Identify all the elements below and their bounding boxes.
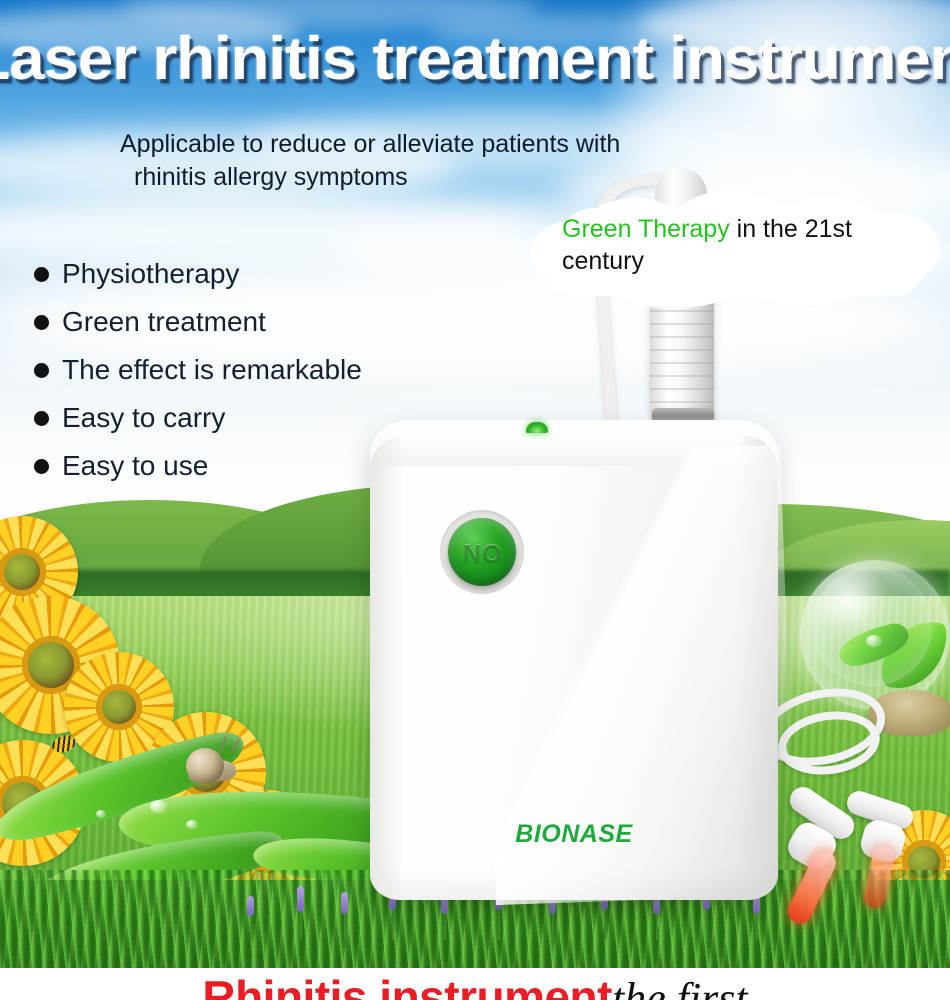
dew-drop (96, 810, 106, 818)
lavender-flower (297, 886, 304, 912)
callout-bubble: Green Therapy in the 21st century (518, 190, 942, 300)
callout-text: Green Therapy in the 21st century (562, 214, 934, 277)
power-led-indicator (526, 422, 548, 433)
lavender-flower (247, 896, 254, 916)
feature-list: Physiotherapy Green treatment The effect… (34, 250, 494, 490)
bullet-icon (34, 315, 49, 330)
power-button-label: ON (462, 538, 502, 567)
subtitle: Applicable to reduce or alleviate patien… (120, 128, 880, 194)
page-title: Laser rhinitis treatment instrument (0, 24, 950, 93)
cloud-lobe (750, 272, 860, 306)
sunflower-core (0, 548, 46, 596)
device-body: ON BIONASE (370, 420, 778, 900)
product-poster: ON BIONASE Green Therapy in the 21st cen… (0, 0, 950, 1000)
bullet-icon (34, 267, 49, 282)
list-item: Green treatment (34, 298, 494, 346)
list-item: The effect is remarkable (34, 346, 494, 394)
list-item: Easy to use (34, 442, 494, 490)
snail-shell (186, 748, 224, 784)
eco-bubble-highlight (812, 566, 932, 686)
sunflower-core (96, 684, 142, 730)
banner-script-text: the first (612, 974, 748, 1000)
feature-label: Physiotherapy (62, 258, 239, 290)
feature-label: The effect is remarkable (62, 354, 362, 386)
list-item: Easy to carry (34, 394, 494, 442)
bottom-banner-text: Rhinitis instrumentthe first (0, 970, 950, 1000)
feature-label: Easy to carry (62, 402, 225, 434)
banner-red-text: Rhinitis instrument (202, 971, 612, 1000)
subtitle-line-1: Applicable to reduce or alleviate patien… (120, 130, 620, 158)
dew-drop (150, 800, 167, 813)
bullet-icon (34, 459, 49, 474)
bullet-icon (34, 363, 49, 378)
brand-logo: BIONASE (370, 820, 778, 849)
list-item: Physiotherapy (34, 250, 494, 298)
brand-logo-text: BIONASE (515, 820, 632, 848)
bullet-icon (34, 411, 49, 426)
callout-highlight: Green Therapy (562, 215, 730, 243)
lavender-flower (341, 892, 348, 914)
dew-drop (186, 820, 198, 829)
subtitle-line-2: rhinitis allergy symptoms (134, 161, 880, 194)
feature-label: Green treatment (62, 306, 266, 338)
power-on-button[interactable]: ON (448, 518, 516, 586)
bottom-banner: Rhinitis instrumentthe first (0, 968, 950, 1000)
feature-label: Easy to use (62, 450, 208, 482)
